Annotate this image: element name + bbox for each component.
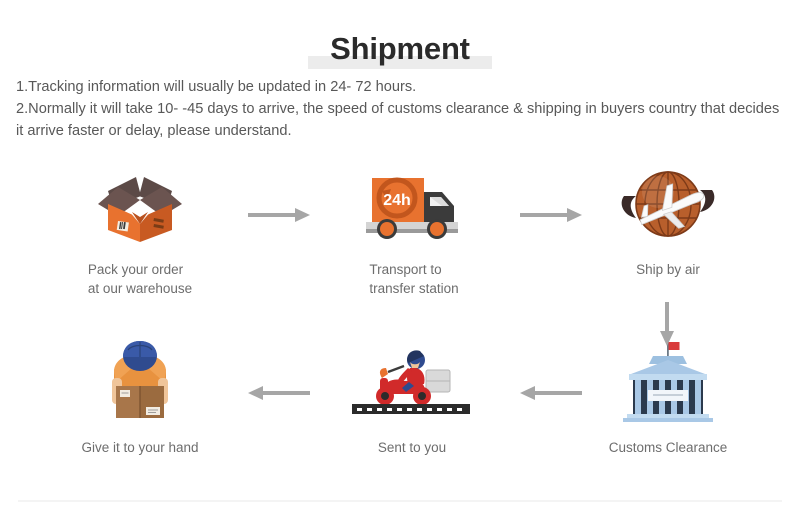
flow-step-air: Ship by air	[578, 160, 758, 279]
page-title-area: Shipment	[0, 26, 800, 72]
flow-step-transport-label-line1: Transport to	[369, 262, 441, 277]
page-title: Shipment	[330, 26, 470, 72]
intro-paragraph: 1.Tracking information will usually be u…	[16, 76, 788, 142]
arrow-down-icon-air-to-customs	[660, 302, 674, 346]
flow-step-hand-label: Give it to your hand	[81, 438, 198, 457]
arrow-shaft	[665, 302, 669, 334]
flow-step-sent: Sent to you	[322, 338, 502, 457]
open-cardboard-box-icon	[50, 160, 230, 246]
flow-step-customs: Customs Clearance	[578, 338, 758, 457]
arrow-shaft	[248, 213, 296, 217]
flow-step-transport: 24h Transport to transfer station	[324, 160, 504, 298]
flow-step-transport-label: Transport to transfer station	[369, 260, 458, 298]
truck-badge-text: 24h	[383, 192, 411, 209]
bottom-divider	[18, 500, 782, 502]
intro-line-1: 1.Tracking information will usually be u…	[16, 76, 788, 98]
flow-step-customs-label: Customs Clearance	[609, 438, 728, 457]
flow-step-transport-label-line2: transfer station	[369, 281, 458, 296]
courier-carrying-box-icon	[50, 338, 230, 424]
delivery-truck-icon: 24h	[324, 160, 504, 246]
flow-step-pack: Pack your order at our warehouse	[50, 160, 230, 298]
arrow-left-icon-sent-to-hand	[248, 386, 310, 400]
arrow-shaft	[534, 391, 582, 395]
arrow-right-icon-transport-to-air	[520, 208, 582, 222]
arrow-left-icon-customs-to-sent	[520, 386, 582, 400]
flow-step-air-label: Ship by air	[636, 260, 700, 279]
shipment-flow-diagram: Pack your order at our warehouse 24h	[0, 160, 800, 490]
arrow-head	[520, 386, 535, 400]
intro-line-2: 2.Normally it will take 10- -45 days to …	[16, 98, 788, 142]
flow-step-pack-label-line1: Pack your order	[88, 262, 183, 277]
arrow-right-icon-pack-to-transport	[248, 208, 310, 222]
customs-building-icon	[578, 338, 758, 424]
arrow-head	[660, 331, 674, 346]
flow-step-hand: Give it to your hand	[50, 338, 230, 457]
arrow-head	[567, 208, 582, 222]
flow-step-pack-label-line2: at our warehouse	[88, 281, 192, 296]
globe-airplane-icon	[578, 160, 758, 246]
scooter-courier-icon	[322, 338, 502, 424]
flow-step-sent-label: Sent to you	[378, 438, 446, 457]
arrow-shaft	[520, 213, 568, 217]
arrow-head	[295, 208, 310, 222]
arrow-shaft	[262, 391, 310, 395]
arrow-head	[248, 386, 263, 400]
flow-step-pack-label: Pack your order at our warehouse	[88, 260, 192, 298]
